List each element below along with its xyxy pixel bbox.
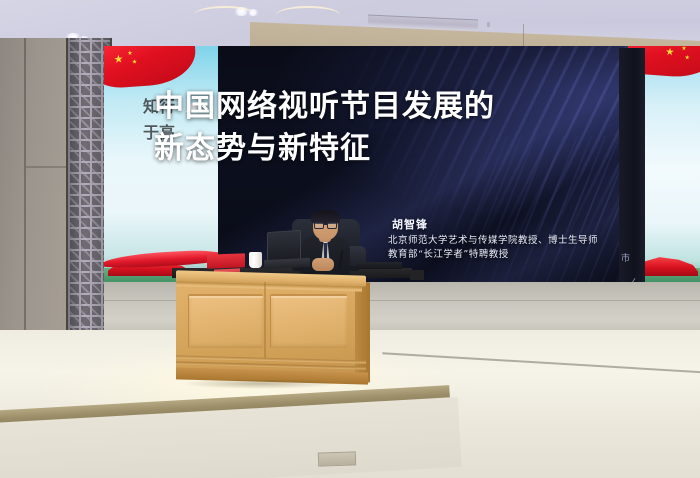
podium-panel [188,294,263,348]
led-display-screen: ★ ★ ★ 知行于高 ★ ★ ★ 中国网络视听 [104,46,700,284]
wall-seam [24,38,26,350]
flag-star-icon: ★ [665,48,675,58]
glasses-lens [327,222,337,229]
eyeglasses-icon [314,222,337,227]
flag-star-icon: ★ [127,50,133,59]
wall-panel-line [26,166,66,168]
floor-access-plate [318,451,356,466]
red-nameplate [207,253,245,268]
flag-star-icon: ★ [132,58,138,67]
flag-star-icon: ★ [684,54,690,63]
chinese-flag-icon: ★ ★ ★ [104,46,197,90]
flag-star-icon: ★ [113,55,123,65]
white-cup [249,252,262,268]
slide-title-line-1: 中国网络视听节目发展的 [154,89,495,124]
table-edge [410,270,424,280]
slide-title: 中国网络视听节目发展的 新态势与新特征 [154,86,574,170]
podium-shadow [176,380,386,392]
partial-text-glyph: 市 [621,253,630,264]
slide-title-line-2: 新态势与新特征 [154,128,574,170]
speaker-hands [312,258,334,271]
desk-equipment [356,262,402,269]
podium-panel [270,294,347,348]
podium-center-divider [264,282,266,360]
slide-speaker-name: 胡智锋 [392,216,428,232]
flag-star-icon: ★ [681,46,687,54]
ceiling-sensor-icon [487,22,490,27]
conference-hall-photo: ★ ★ ★ 知行于高 ★ ★ ★ 中国网络视听 [0,0,700,478]
